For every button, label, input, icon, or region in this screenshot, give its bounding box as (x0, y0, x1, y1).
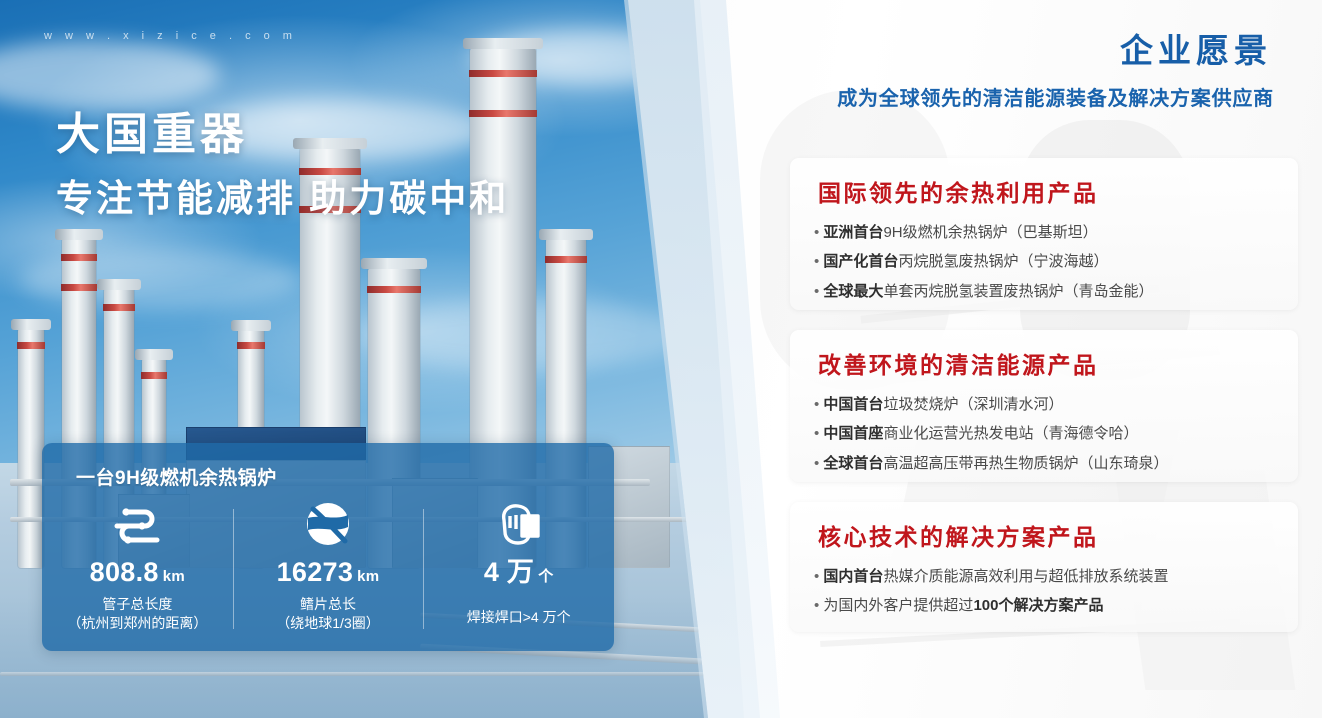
hero-subheadline: 专注节能减排 助力碳中和 (56, 168, 509, 222)
list-item: 中国首台垃圾焚烧炉（深圳清水河） (814, 390, 1284, 419)
vision-card[interactable]: 国际领先的余热利用产品 亚洲首台9H级燃机余热锅炉（巴基斯坦） 国产化首台丙烷脱… (790, 158, 1298, 310)
hero-headline: 大国重器 (56, 98, 248, 162)
stat-label-line1: 管子总长度 (42, 595, 233, 614)
stat-item: 16273km 鳍片总长 （绕地球1/3圈） (233, 501, 424, 633)
list-item: 中国首座商业化运营光热发电站（青海德令哈） (814, 419, 1284, 448)
vision-card[interactable]: 核心技术的解决方案产品 国内首台热媒介质能源高效利用与超低排放系统装置 为国内外… (790, 502, 1298, 632)
stat-label-line2: （绕地球1/3圈） (233, 614, 424, 633)
stats-columns: 808.8km 管子总长度 （杭州到郑州的距离） 16273km 鳍片总长 （绕… (42, 501, 614, 633)
stat-value: 4 万个 (423, 559, 614, 586)
globe-icon (233, 501, 424, 547)
stat-label-line1: 鳍片总长 (233, 595, 424, 614)
stat-unit: 个 (538, 568, 553, 585)
list-item: 为国内外客户提供超过100个解决方案产品 (814, 591, 1284, 620)
slide-root: w w w . x i z i c e . c o m 大国重器 专注节能减排 … (0, 0, 1322, 718)
stat-label-line2: （杭州到郑州的距离） (42, 614, 233, 633)
vision-card-title: 国际领先的余热利用产品 (818, 174, 1099, 208)
stat-unit: km (163, 568, 185, 585)
welding-helmet-icon (423, 501, 614, 547)
list-item: 全球首台高温超高压带再热生物质锅炉（山东琦泉） (814, 449, 1284, 478)
stat-unit: km (357, 568, 379, 585)
page-title: 企业愿景 (1120, 24, 1272, 72)
stat-label-line1: 焊接焊口>4 万个 (423, 608, 614, 627)
vision-card[interactable]: 改善环境的清洁能源产品 中国首台垃圾焚烧炉（深圳清水河） 中国首座商业化运营光热… (790, 330, 1298, 482)
vision-card-title: 改善环境的清洁能源产品 (818, 346, 1099, 380)
list-item: 全球最大单套丙烷脱氢装置废热锅炉（青岛金能） (814, 277, 1284, 306)
list-item: 亚洲首台9H级燃机余热锅炉（巴基斯坦） (814, 218, 1284, 247)
stats-panel-title: 一台9H级燃机余热锅炉 (76, 463, 277, 490)
vision-card-bullets: 亚洲首台9H级燃机余热锅炉（巴基斯坦） 国产化首台丙烷脱氢废热锅炉（宁波海越） … (814, 218, 1284, 306)
stack (18, 328, 44, 568)
page-subtitle: 成为全球领先的清洁能源装备及解决方案供应商 (837, 82, 1274, 111)
stats-panel: 一台9H级燃机余热锅炉 808.8km 管子总长度 （杭州到郑州的距离） (42, 443, 614, 651)
vision-card-title: 核心技术的解决方案产品 (818, 518, 1099, 552)
stat-value: 16273km (233, 559, 424, 586)
pipe-route-icon (42, 501, 233, 547)
site-url-watermark: w w w . x i z i c e . c o m (44, 30, 297, 42)
vision-card-bullets: 中国首台垃圾焚烧炉（深圳清水河） 中国首座商业化运营光热发电站（青海德令哈） 全… (814, 390, 1284, 478)
vision-card-bullets: 国内首台热媒介质能源高效利用与超低排放系统装置 为国内外客户提供超过100个解决… (814, 562, 1284, 621)
stat-value: 808.8km (42, 559, 233, 586)
list-item: 国内首台热媒介质能源高效利用与超低排放系统装置 (814, 562, 1284, 591)
stat-item: 808.8km 管子总长度 （杭州到郑州的距离） (42, 501, 233, 633)
stat-item: 4 万个 焊接焊口>4 万个 (423, 501, 614, 633)
list-item: 国产化首台丙烷脱氢废热锅炉（宁波海越） (814, 247, 1284, 276)
